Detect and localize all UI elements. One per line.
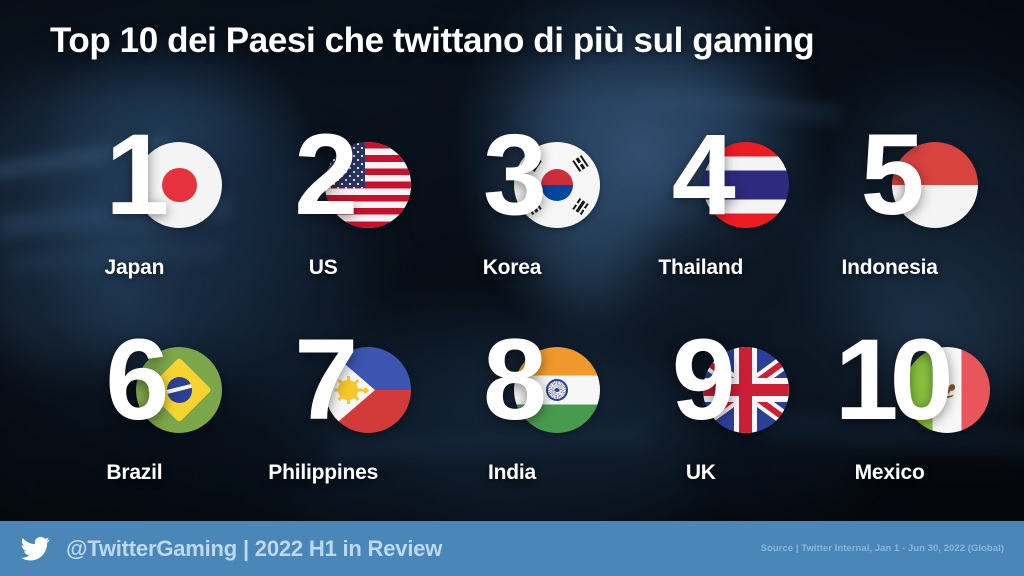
rank-number: 5: [861, 118, 919, 233]
page-title: Top 10 dei Paesi che twittano di più sul…: [50, 20, 980, 62]
rank-badge-7: 7: [294, 305, 352, 455]
rank-cell-1[interactable]: 1 Japan: [40, 100, 229, 295]
rank-badge-8: 8: [483, 305, 541, 455]
rank-cell-2[interactable]: 2 US: [229, 100, 418, 295]
footer-bar: @TwitterGaming | 2022 H1 in Review Sourc…: [0, 521, 1024, 576]
rank-number: 9: [672, 323, 730, 438]
rank-cell-4[interactable]: 4 Thailand: [606, 100, 795, 295]
rank-badge-3: 3: [483, 100, 541, 250]
country-label: Brazil: [106, 461, 162, 485]
rank-cell-5[interactable]: 5 Indonesia: [795, 100, 984, 295]
footer-source-label: Source | Twitter Internal, Jan 1 - Jun 3…: [761, 543, 1004, 554]
country-label: US: [309, 256, 338, 280]
rank-number: 10: [835, 323, 945, 438]
footer-handle-label: @TwitterGaming | 2022 H1 in Review: [66, 536, 442, 562]
rank-badge-1: 1: [105, 100, 163, 250]
rank-number: 8: [483, 323, 541, 438]
rank-cell-10[interactable]: 10 Mexico: [795, 305, 984, 500]
rank-number: 1: [105, 118, 163, 233]
ranking-row-top: 1 Japan 2: [40, 100, 984, 295]
country-label: Philippines: [268, 461, 378, 485]
country-label: Thailand: [658, 256, 743, 280]
rank-cell-3[interactable]: 3 Korea: [418, 100, 607, 295]
rank-number: 7: [294, 323, 352, 438]
rank-number: 2: [294, 118, 352, 233]
twitter-bird-icon[interactable]: [18, 534, 52, 564]
rank-number: 3: [483, 118, 541, 233]
country-label: Korea: [483, 256, 542, 280]
country-label: India: [488, 461, 536, 485]
rank-badge-4: 4: [672, 100, 730, 250]
rank-number: 6: [105, 323, 163, 438]
rank-badge-2: 2: [294, 100, 352, 250]
country-label: UK: [686, 461, 716, 485]
country-label: Mexico: [855, 461, 925, 485]
rank-cell-7[interactable]: 7 Philippines: [229, 305, 418, 500]
country-label: Japan: [105, 256, 165, 280]
ranking-row-bottom: 6 Brazil 7: [40, 305, 984, 500]
ranking-grid: 1 Japan 2: [40, 100, 984, 500]
country-label: Indonesia: [841, 256, 937, 280]
rank-badge-9: 9: [672, 305, 730, 455]
rank-badge-5: 5: [861, 100, 919, 250]
rank-badge-6: 6: [105, 305, 163, 455]
rank-cell-8[interactable]: 8 India: [418, 305, 607, 500]
rank-badge-10: 10: [835, 305, 945, 455]
rank-cell-6[interactable]: 6 Brazil: [40, 305, 229, 500]
infographic-canvas: Top 10 dei Paesi che twittano di più sul…: [0, 0, 1024, 576]
rank-number: 4: [672, 118, 730, 233]
rank-cell-9[interactable]: 9 UK: [606, 305, 795, 500]
